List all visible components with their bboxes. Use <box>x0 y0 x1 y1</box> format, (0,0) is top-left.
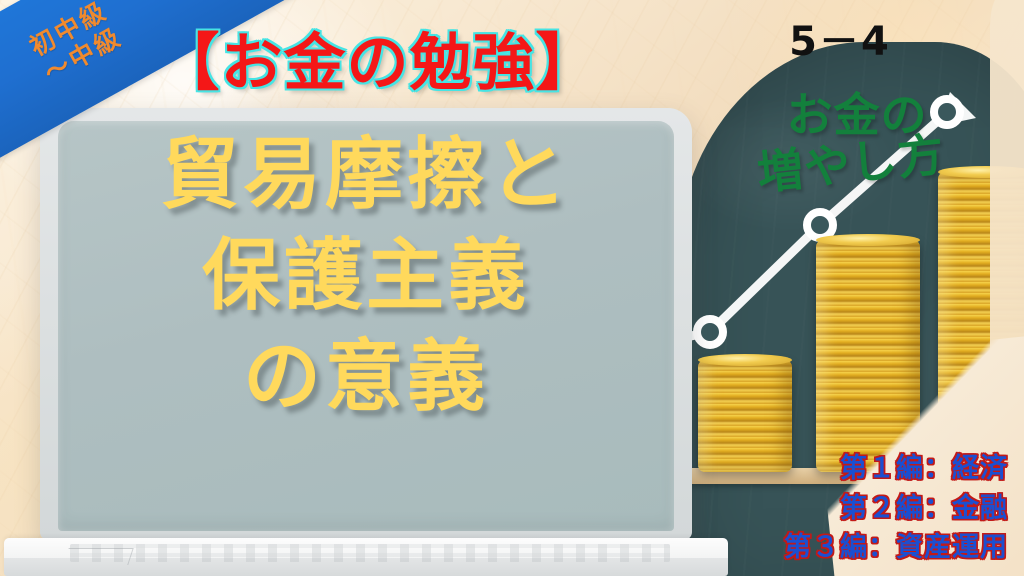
series-item-1: 第１編：経済 <box>840 450 1008 487</box>
coin-stack-small <box>698 360 792 472</box>
main-title: 貿易摩擦と 保護主義 の意義 <box>58 128 674 425</box>
laptop-palmrest-edge <box>63 548 134 565</box>
board-heading: お金の 増やし方 <box>742 92 972 188</box>
series-list: 第１編：経済 第２編：金融 第３編：資産運用 <box>784 450 1008 566</box>
thumbnail-canvas: 貿易摩擦と 保護主義 の意義 【お金の勉強】 初中級 〜中級 5－4 お金の 増… <box>0 0 1024 576</box>
main-title-line-3: の意義 <box>243 330 489 425</box>
lesson-number: 5－4 <box>745 22 935 62</box>
series-item-3: 第３編：資産運用 <box>784 529 1008 566</box>
series-item-2: 第２編：金融 <box>840 490 1008 527</box>
main-title-line-1: 貿易摩擦と <box>161 128 571 223</box>
main-title-line-2: 保護主義 <box>202 229 530 324</box>
header-title: 【お金の勉強】 <box>118 32 638 94</box>
laptop-keyboard <box>70 544 670 562</box>
